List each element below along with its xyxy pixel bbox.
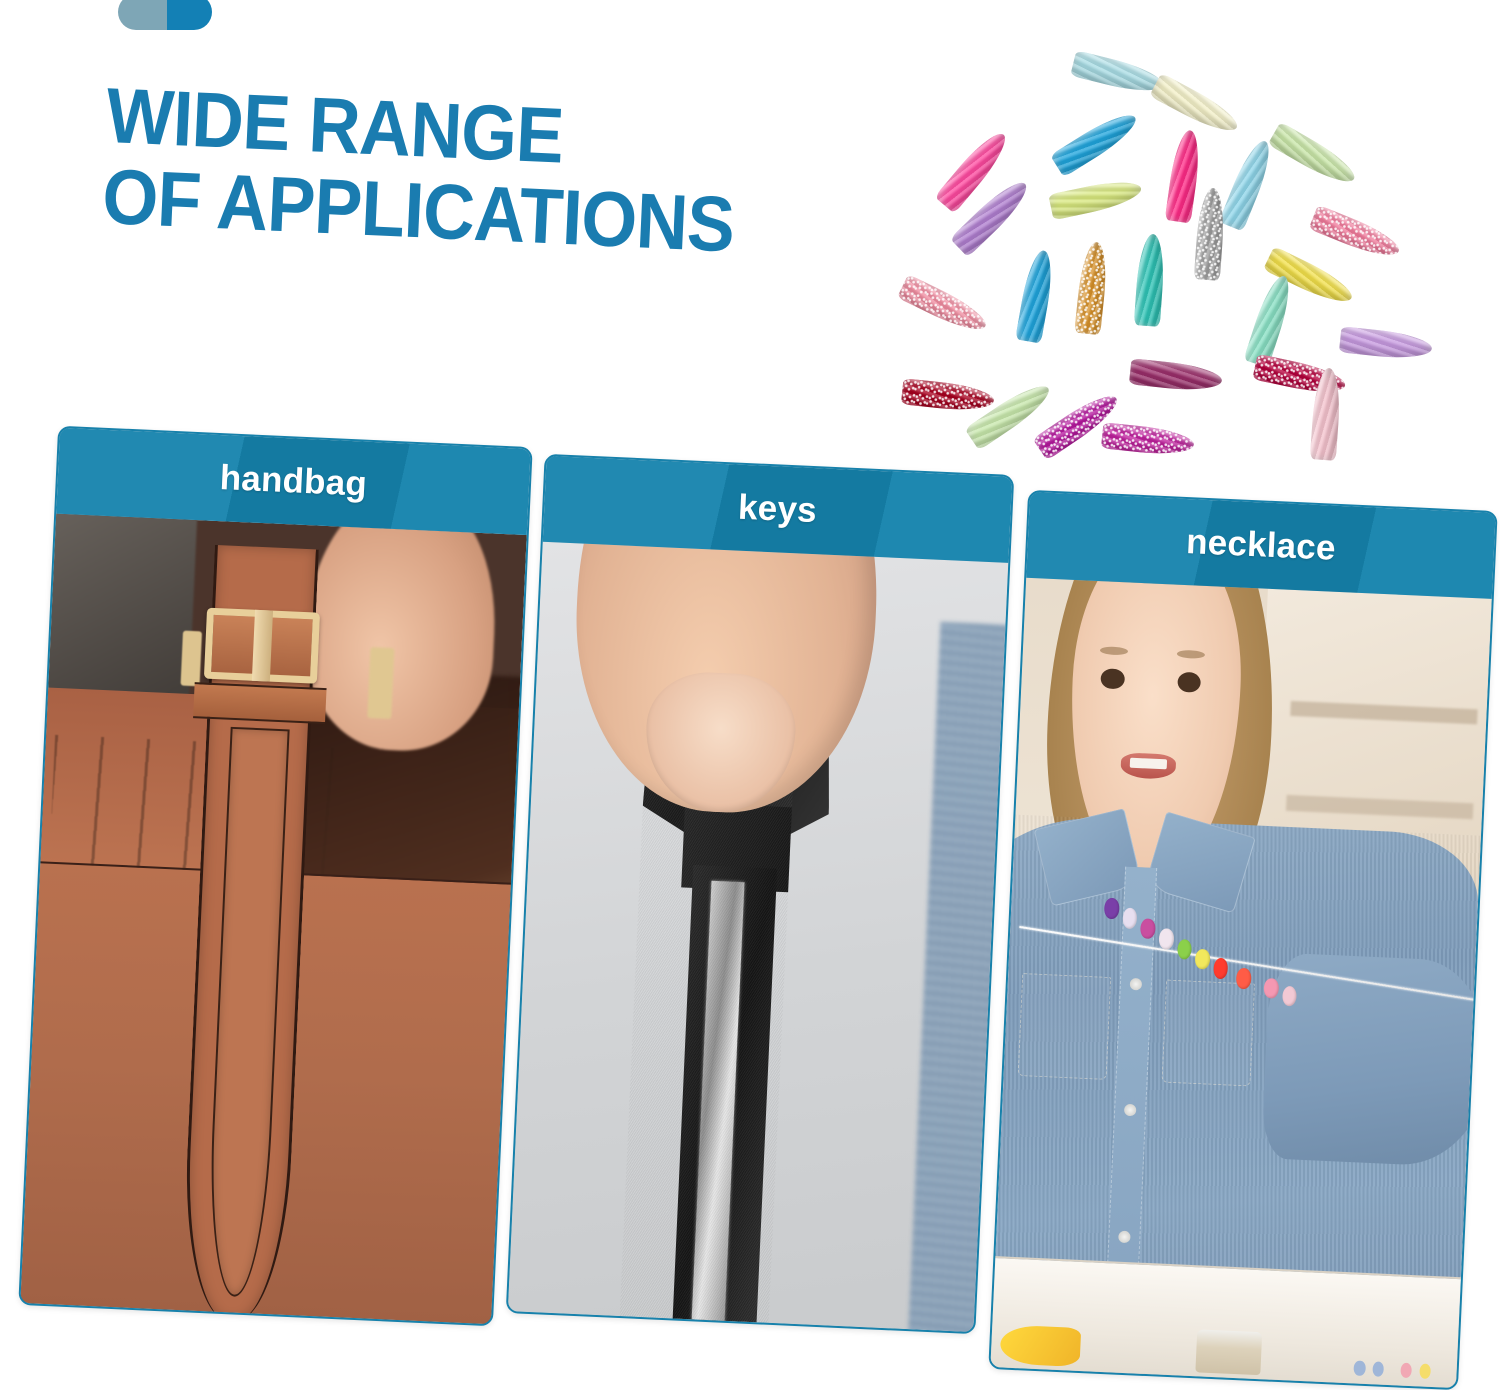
progress-pill[interactable]	[118, 0, 212, 30]
product-bead	[1268, 122, 1361, 191]
product-bead	[1165, 129, 1204, 224]
card-title-necklace: necklace	[1185, 522, 1336, 569]
product-bead	[901, 378, 995, 413]
product-bead	[1129, 358, 1223, 393]
product-bead	[1149, 73, 1242, 139]
shirt-pocket-left	[1018, 973, 1111, 1080]
shirt-pocket-right	[1162, 980, 1255, 1087]
application-card-keys[interactable]: keys	[506, 454, 1015, 1334]
card-photo-keys	[508, 542, 1008, 1332]
progress-pill-right-segment	[167, 0, 212, 30]
card-title-handbag: handbag	[219, 458, 368, 505]
denim-background	[907, 621, 1008, 1332]
teeth	[1130, 758, 1168, 769]
product-bead	[1194, 187, 1226, 281]
product-bead	[1308, 205, 1403, 264]
handbag-d-ring-right	[368, 647, 395, 719]
necklace-bead	[1104, 898, 1119, 919]
product-bead	[1219, 136, 1278, 231]
card-photo-handbag	[20, 514, 526, 1325]
handbag-photo-illustration	[20, 514, 526, 1325]
product-bead	[897, 274, 991, 338]
product-bead	[1050, 107, 1142, 178]
application-card-handbag[interactable]: handbag	[18, 426, 532, 1327]
product-beads-cluster	[905, 12, 1495, 462]
progress-pill-left-segment	[118, 0, 167, 30]
product-bead	[1048, 176, 1143, 221]
product-bead	[1339, 326, 1433, 361]
thread-spool	[1195, 1329, 1262, 1375]
card-photo-necklace	[990, 578, 1491, 1388]
keys-photo-illustration	[508, 542, 1008, 1332]
handbag-d-ring-left	[180, 630, 201, 686]
handbag-buckle-prong	[251, 610, 273, 682]
application-slide: WIDE RANGE OF APPLICATIONS handbag	[0, 0, 1500, 1390]
necklace-bead	[1159, 929, 1174, 950]
product-bead	[1134, 233, 1166, 327]
product-bead	[1243, 272, 1296, 368]
necklace-photo-illustration	[990, 578, 1491, 1388]
necklace-bead	[1236, 968, 1251, 989]
card-title-keys: keys	[737, 488, 817, 532]
application-card-necklace[interactable]: necklace	[988, 490, 1497, 1390]
handbag-strap-keeper	[193, 682, 326, 724]
product-bead	[1101, 422, 1195, 457]
product-bead	[1074, 241, 1109, 335]
product-bead	[1015, 248, 1057, 343]
page-title: WIDE RANGE OF APPLICATIONS	[101, 78, 794, 265]
